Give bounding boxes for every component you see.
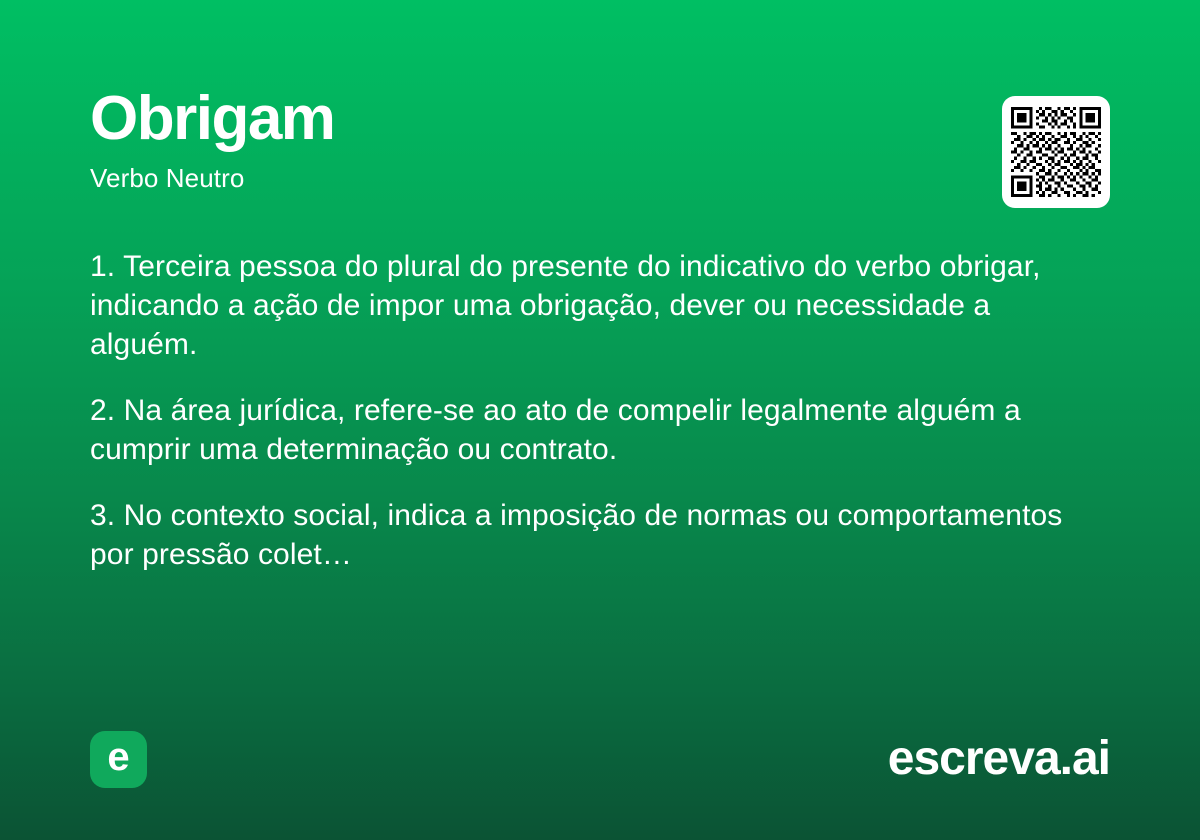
definition-list: 1. Terceira pessoa do plural do presente… (90, 247, 1080, 574)
page-title: Obrigam (90, 88, 1110, 150)
definition-item: 2. Na área jurídica, refere-se ao ato de… (90, 391, 1080, 469)
brand-wordmark: escreva.ai (888, 735, 1110, 783)
qr-code-panel[interactable] (1002, 96, 1110, 208)
qr-code-icon (1011, 105, 1101, 199)
dictionary-card: Obrigam Verbo Neutro (0, 0, 1200, 840)
definition-item: 3. No contexto social, indica a imposiçã… (90, 496, 1080, 574)
card-header: Obrigam Verbo Neutro (90, 88, 1110, 193)
logo-letter: e (107, 737, 129, 777)
definition-item: 1. Terceira pessoa do plural do presente… (90, 247, 1080, 364)
word-class-label: Verbo Neutro (90, 164, 1110, 193)
escreva-logo-icon[interactable]: e (90, 731, 147, 788)
card-footer: e escreva.ai (90, 730, 1110, 788)
